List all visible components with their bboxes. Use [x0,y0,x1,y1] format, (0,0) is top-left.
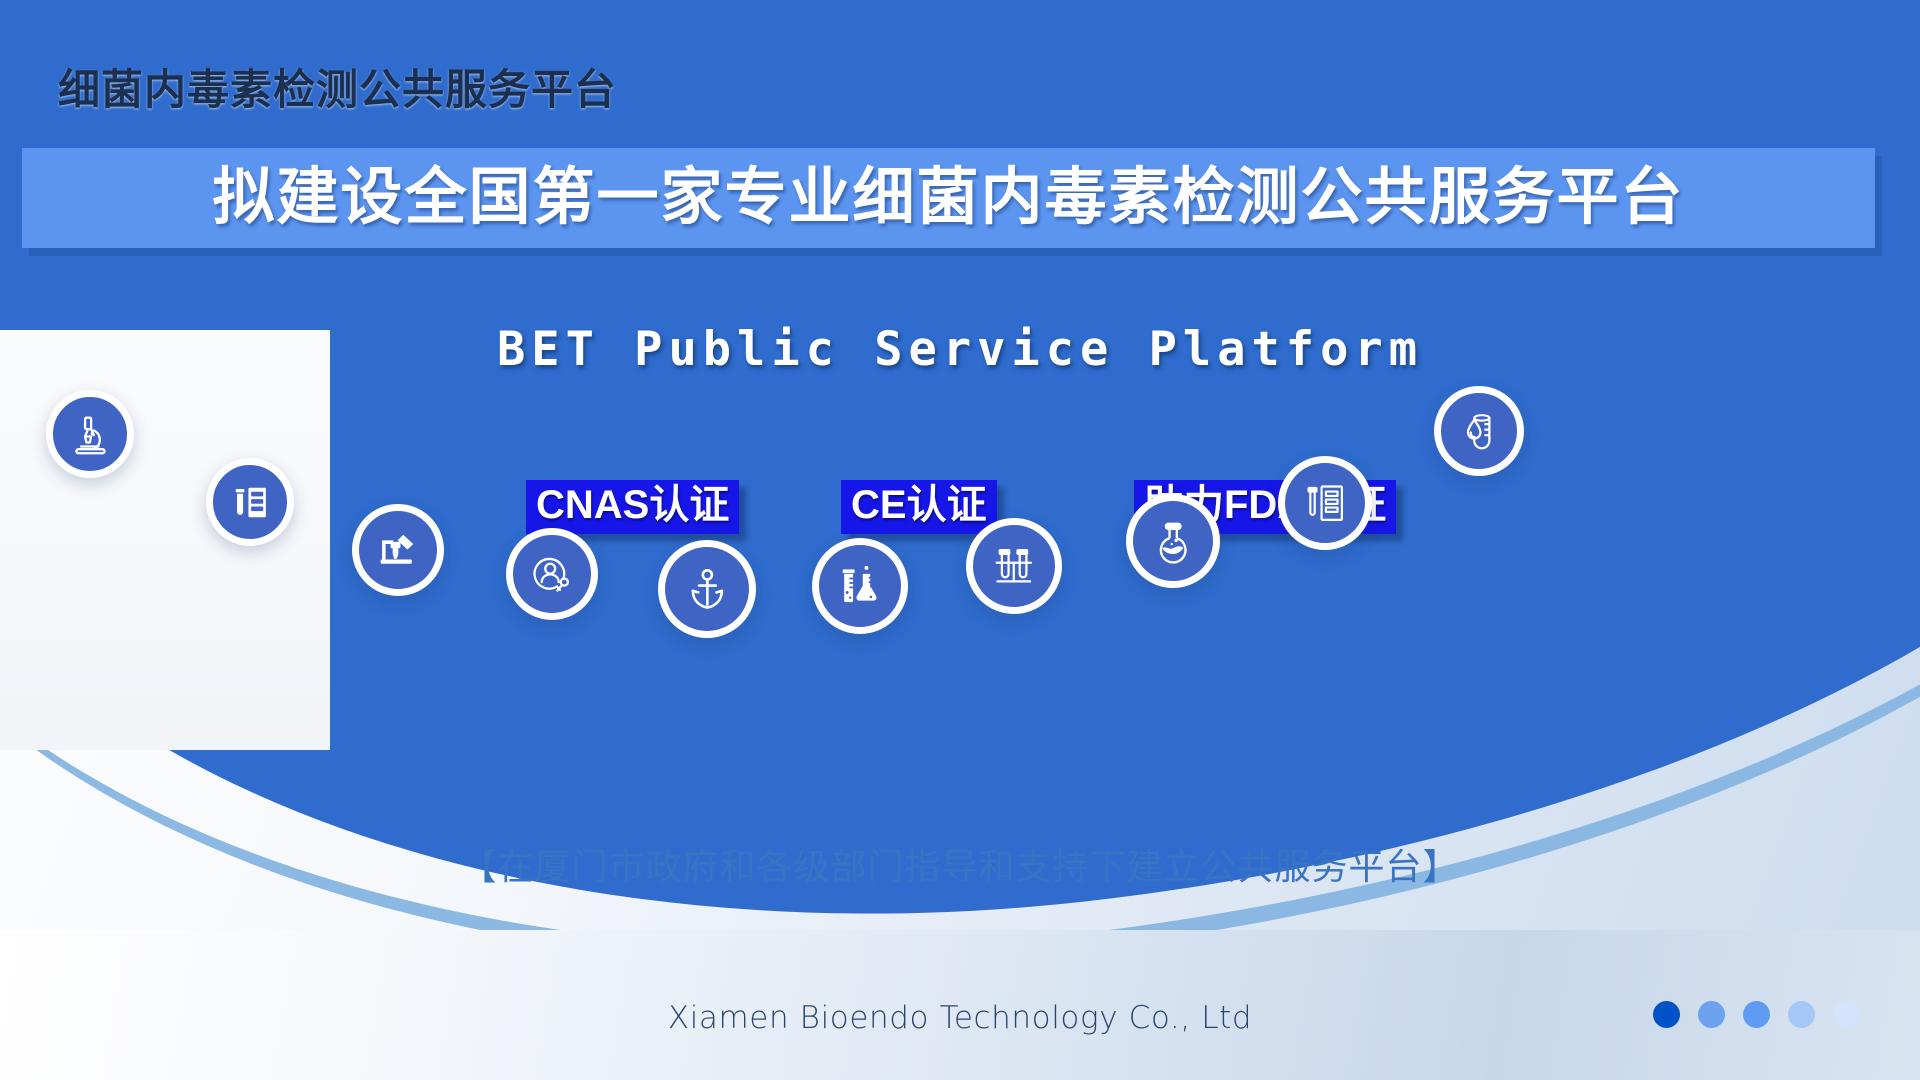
graduated-tube-icon[interactable] [1434,386,1524,476]
pagination-dots[interactable] [1653,1001,1860,1028]
badge-ce[interactable]: CE认证 [841,480,997,534]
badge-cnas[interactable]: CNAS认证 [526,480,739,534]
main-banner: 拟建设全国第一家专业细菌内毒素检测公共服务平台 [22,148,1875,248]
pagination-dot[interactable] [1653,1001,1680,1028]
microscope-icon[interactable] [46,390,134,478]
footer-company-name: Xiamen Bioendo Technology Co., Ltd [0,1000,1920,1036]
cylinder-flask-icon[interactable] [812,538,908,634]
user-key-auth-icon[interactable] [506,528,598,620]
test-tube-rack-icon[interactable] [966,518,1062,614]
badge-cnas-label: CNAS认证 [536,483,729,527]
test-tube-report-icon[interactable] [206,458,294,546]
slide-root: PROFILE INFORMATION ■ ■ ■ ■■ ■ ■■ ■ ■ ■ … [0,0,1920,1080]
main-banner-text: 拟建设全国第一家专业细菌内毒素检测公共服务平台 [212,167,1684,229]
pagination-dot[interactable] [1833,1001,1860,1028]
pagination-dot[interactable] [1698,1001,1725,1028]
page-title: 细菌内毒素检测公共服务平台 [58,56,617,117]
english-subtitle: BET Public Service Platform [0,322,1920,377]
sample-report-icon[interactable] [1278,456,1372,550]
round-flask-icon[interactable] [1126,494,1220,588]
support-note: 【在厦门市政府和各级部门指导和支持下建立公共服务平台】 [0,838,1920,890]
pagination-dot[interactable] [1788,1001,1815,1028]
lab-dispenser-icon[interactable] [352,504,444,596]
badge-ce-label: CE认证 [851,483,987,527]
anchor-icon[interactable] [658,540,756,638]
pagination-dot[interactable] [1743,1001,1770,1028]
